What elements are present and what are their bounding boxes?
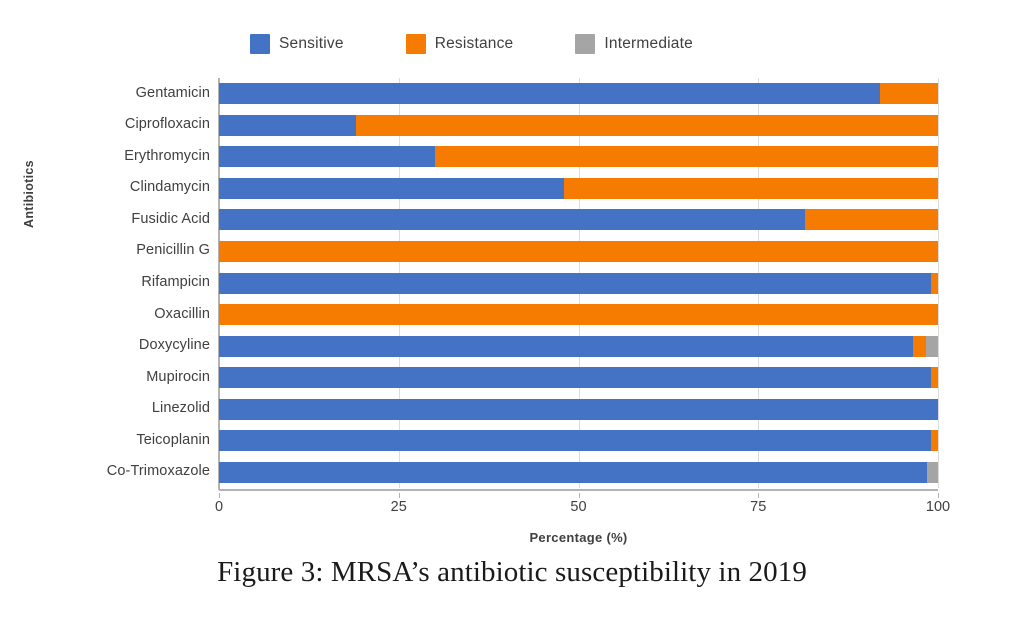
bar-segment-resistance[interactable] (931, 430, 938, 451)
figure-mrsa-susceptibility: Sensitive Resistance Intermediate Gentam… (0, 0, 1024, 623)
bar-segment-sensitive[interactable] (219, 367, 931, 388)
x-tick-mark (579, 493, 580, 498)
bar-segment-resistance[interactable] (219, 304, 938, 325)
bar-segment-sensitive[interactable] (219, 178, 564, 199)
bar-row[interactable] (219, 304, 938, 325)
bar-segment-resistance[interactable] (435, 146, 938, 167)
bar-segment-sensitive[interactable] (219, 336, 913, 357)
bar-row[interactable] (219, 399, 938, 420)
bar-row[interactable] (219, 336, 938, 357)
square-swatch-icon (406, 34, 426, 54)
y-tick-label: Teicoplanin (30, 432, 210, 448)
x-tick-mark (399, 493, 400, 498)
bar-segment-sensitive[interactable] (219, 146, 435, 167)
y-tick-label: Clindamycin (30, 179, 210, 195)
x-tick-label: 100 (926, 499, 950, 515)
bar-row[interactable] (219, 146, 938, 167)
x-axis-line (219, 489, 938, 491)
y-tick-label: Mupirocin (30, 369, 210, 385)
bar-segment-sensitive[interactable] (219, 209, 805, 230)
figure-caption: Figure 3: MRSA’s antibiotic susceptibili… (0, 556, 1024, 589)
y-tick-label: Linezolid (30, 400, 210, 416)
y-tick-label: Fusidic Acid (30, 211, 210, 227)
gridline (938, 78, 939, 488)
bar-segment-sensitive[interactable] (219, 83, 880, 104)
y-tick-label: Erythromycin (30, 148, 210, 164)
square-swatch-icon (250, 34, 270, 54)
x-tick-label: 50 (570, 499, 586, 515)
y-tick-label: Penicillin G (30, 242, 210, 258)
bar-row[interactable] (219, 367, 938, 388)
bar-segment-resistance[interactable] (564, 178, 938, 199)
bar-segment-sensitive[interactable] (219, 399, 938, 420)
x-tick-mark (938, 493, 939, 498)
legend-label: Sensitive (279, 35, 344, 53)
bar-row[interactable] (219, 462, 938, 483)
bar-segment-resistance[interactable] (219, 241, 938, 262)
bar-segment-intermediate[interactable] (926, 336, 938, 357)
bar-segment-intermediate[interactable] (927, 462, 938, 483)
bar-segment-resistance[interactable] (931, 367, 938, 388)
y-tick-label: Gentamicin (30, 85, 210, 101)
bar-segment-resistance[interactable] (913, 336, 926, 357)
bar-row[interactable] (219, 178, 938, 199)
plot-area (219, 78, 938, 488)
legend-item-resistance[interactable]: Resistance (406, 34, 514, 54)
bar-segment-resistance[interactable] (880, 83, 938, 104)
legend-label: Resistance (435, 35, 514, 53)
bar-row[interactable] (219, 83, 938, 104)
legend-item-intermediate[interactable]: Intermediate (575, 34, 693, 54)
bar-segment-sensitive[interactable] (219, 115, 356, 136)
chart-legend: Sensitive Resistance Intermediate (250, 30, 720, 58)
y-axis-tick-labels: GentamicinCiprofloxacinErythromycinClind… (27, 78, 210, 490)
legend-item-sensitive[interactable]: Sensitive (250, 34, 344, 54)
x-tick-label: 0 (215, 499, 223, 515)
x-tick-label: 75 (750, 499, 766, 515)
y-tick-label: Oxacillin (30, 306, 210, 322)
y-tick-label: Co-Trimoxazole (30, 463, 210, 479)
y-tick-label: Rifampicin (30, 274, 210, 290)
legend-label: Intermediate (604, 35, 693, 53)
bar-segment-sensitive[interactable] (219, 462, 927, 483)
bar-segment-resistance[interactable] (931, 273, 938, 294)
y-tick-label: Doxycyline (30, 337, 210, 353)
x-axis-ticks: 0255075100 (219, 493, 938, 517)
bar-row[interactable] (219, 430, 938, 451)
bar-row[interactable] (219, 241, 938, 262)
x-tick-label: 25 (391, 499, 407, 515)
y-axis-title: Antibiotics (22, 160, 36, 228)
y-tick-label: Ciprofloxacin (30, 116, 210, 132)
x-tick-mark (219, 493, 220, 498)
bar-row[interactable] (219, 209, 938, 230)
bar-segment-resistance[interactable] (356, 115, 938, 136)
bar-row[interactable] (219, 273, 938, 294)
bar-row[interactable] (219, 115, 938, 136)
bar-segment-sensitive[interactable] (219, 430, 931, 451)
x-tick-mark (758, 493, 759, 498)
square-swatch-icon (575, 34, 595, 54)
bar-segment-resistance[interactable] (805, 209, 938, 230)
x-axis-title: Percentage (%) (219, 530, 938, 545)
bar-segment-sensitive[interactable] (219, 273, 931, 294)
